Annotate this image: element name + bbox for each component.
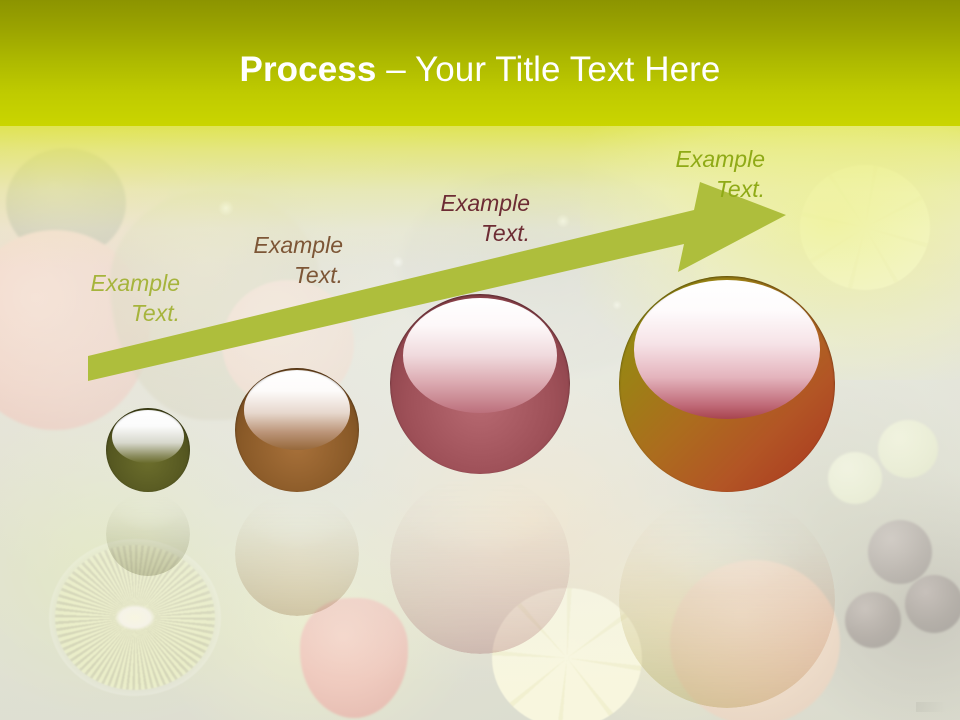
step-sphere-3[interactable]: [390, 294, 570, 474]
sphere-reflection-4: [619, 492, 835, 708]
step-label-4: Example Text.: [560, 144, 765, 204]
step-sphere-1[interactable]: [106, 408, 190, 492]
sphere-rim: [619, 276, 835, 492]
title-bar: Process – Your Title Text Here: [0, 0, 960, 126]
sphere-rim: [106, 408, 190, 492]
page-title: Process – Your Title Text Here: [0, 49, 960, 91]
sphere-reflection-1: [106, 492, 190, 576]
sphere-rim: [235, 368, 359, 492]
step-label-3: Example Text.: [330, 188, 530, 248]
title-rest-part: – Your Title Text Here: [376, 50, 720, 89]
sphere-rim: [390, 294, 570, 474]
step-sphere-2[interactable]: [235, 368, 359, 492]
step-label-2: Example Text.: [178, 230, 343, 290]
sphere-reflection-3: [390, 474, 570, 654]
step-sphere-4[interactable]: [619, 276, 835, 492]
title-bold-part: Process: [240, 50, 377, 89]
slide-canvas: Example Text. Example Text. Example Text…: [0, 0, 960, 720]
step-label-1: Example Text.: [30, 268, 180, 328]
footer-mark: [916, 702, 946, 712]
sphere-reflection-2: [235, 492, 359, 616]
